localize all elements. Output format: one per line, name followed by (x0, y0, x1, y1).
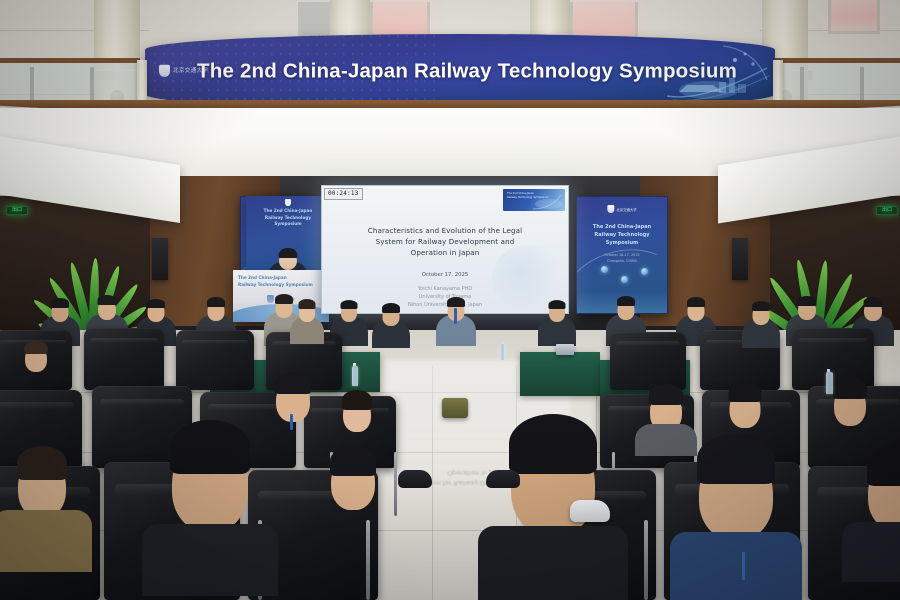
water-bottle (500, 344, 505, 360)
audience-member (290, 300, 324, 344)
presentation-timer: 00:24:13 (324, 188, 363, 200)
symposium-banner: 北京交通大学 The 2nd China-Japan Railway Techn… (145, 34, 775, 110)
feed-title-line1: The 2nd China-Japan (252, 208, 324, 215)
loudspeaker-right (732, 238, 748, 280)
chair-leg (394, 452, 397, 516)
poster-node-icon (641, 268, 648, 275)
conference-table (520, 352, 600, 396)
exit-sign-right: 出口 (876, 206, 898, 215)
university-crest-icon (159, 65, 170, 77)
conference-hall-photo: 北京交通大学 The 2nd China-Japan Railway Techn… (0, 0, 900, 600)
slide-title-line3: Operation in Japan (332, 248, 558, 259)
shoe (570, 500, 610, 522)
slide-author-name: Yoichi Kanayama PHD (322, 286, 568, 294)
poster-crest: 北京交通大学 (607, 205, 636, 213)
poster-title-line2: Railway Technology Symposium (583, 231, 661, 247)
audience-member-foreground (676, 420, 796, 540)
shoe (486, 470, 520, 488)
audience-member (330, 378, 384, 432)
slide-corner-logo: The 2nd China-Japan Railway Technology S… (503, 189, 565, 211)
shoe (398, 470, 432, 488)
audience-member (14, 338, 58, 378)
audience-member (262, 360, 324, 422)
banner-title: The 2nd China-Japan Railway Technology S… (197, 60, 679, 84)
projection-screen: 00:24:13 The 2nd China-Japan Railway Tec… (321, 185, 569, 314)
water-bottle (826, 372, 833, 394)
poster-crest-text: 北京交通大学 (616, 207, 636, 212)
bag (442, 398, 468, 418)
university-crest-icon (607, 205, 614, 213)
speaker-video-feed: The 2nd China-Japan Railway Technology S… (246, 196, 330, 276)
poster-title: The 2nd China-Japan Railway Technology S… (583, 223, 661, 247)
window (828, 0, 880, 34)
audience-member (372, 306, 410, 348)
audience-member (538, 302, 576, 346)
exit-sign-left: 出口 (6, 206, 28, 215)
audience-member-foreground (852, 430, 900, 530)
audience-member (436, 300, 476, 346)
exit-sign-label: 出口 (12, 208, 22, 213)
audience-member (742, 304, 780, 348)
slide-title-line1: Characteristics and Evolution of the Leg… (332, 226, 558, 237)
chair-leg (644, 520, 648, 600)
laptop (556, 344, 574, 355)
slide-title: Characteristics and Evolution of the Leg… (332, 226, 558, 259)
banner-surface: 北京交通大学 The 2nd China-Japan Railway Techn… (145, 34, 775, 110)
speaker-hair (279, 248, 298, 258)
lectern-banner: The 2nd China-Japan Railway Technology S… (238, 275, 324, 291)
feed-title: The 2nd China-Japan Railway Technology S… (252, 208, 324, 228)
chair (176, 330, 254, 390)
chair-leg (366, 520, 370, 600)
chair (84, 328, 164, 390)
slide-title-line2: System for Railway Development and (332, 237, 558, 248)
slide-date: October 17, 2025 (322, 272, 568, 278)
feed-title-line2: Railway Technology Symposium (252, 215, 324, 228)
feed-crest-icon (285, 199, 291, 206)
audience-member-foreground (150, 412, 270, 532)
train-cityscape-icon (663, 38, 773, 106)
exit-sign-label: 出口 (882, 208, 892, 213)
poster-node-icon (601, 266, 608, 273)
loudspeaker-left (152, 238, 168, 280)
water-bottle (352, 366, 358, 386)
lectern-banner-line2: Railway Technology Symposium (238, 282, 324, 289)
audience-member (716, 368, 774, 428)
audience-member (318, 430, 388, 510)
poster-node-icon (621, 276, 628, 283)
poster-title-line1: The 2nd China-Japan (583, 223, 661, 231)
audience-member (0, 418, 84, 518)
